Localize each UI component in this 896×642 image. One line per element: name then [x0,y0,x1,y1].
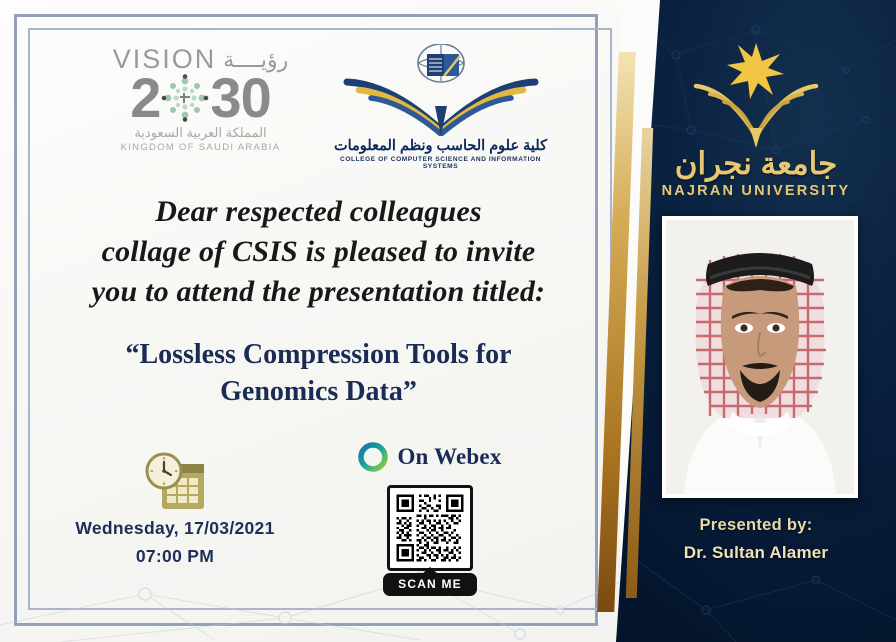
platform-label: On Webex [397,444,501,470]
csis-name-ar: كلية علوم الحاسب ونظم المعلومات [323,138,558,154]
vision-kingdom-en: KINGDOM OF SAUDI ARABIA [98,142,303,153]
right-university-panel: جامعة نجران NAJRAN UNIVERSITY [616,0,896,642]
event-date: Wednesday, 17/03/2021 [40,518,310,539]
presenter-name: Dr. Sultan Alamer [616,543,896,563]
najran-university-star-emblem [682,40,830,150]
webex-ring-icon [358,442,388,472]
csis-name-en: COLLEGE OF COMPUTER SCIENCE AND INFORMAT… [323,156,558,170]
event-time: 07:00 PM [40,546,310,567]
vision-emblem-icon [161,74,209,122]
invitation-line-1: Dear respected colleagues [46,192,591,232]
invitation-text: Dear respected colleagues collage of CSI… [46,192,591,312]
invitation-line-2: collage of CSIS is pleased to invite [46,232,591,272]
speaker-photo-frame [662,216,858,498]
vision-kingdom-ar: المملكة العربية السعودية [98,125,303,141]
csis-college-logo: كلية علوم الحاسب ونظم المعلومات COLLEGE … [323,44,558,170]
scan-me-badge: SCAN ME [383,573,477,596]
presenter-block: Presented by: Dr. Sultan Alamer [616,516,896,563]
vision-year: 2 [98,71,303,124]
logos-row: VISION رؤيــــة 2 [46,44,576,194]
vision-wordmark-en: VISION [113,44,217,75]
presentation-title-line-1: “Lossless Compression Tools for [46,336,591,373]
presentation-title-line-2: Genomics Data” [46,373,591,410]
qr-code[interactable] [387,485,473,571]
platform-block: On Webex SCAN ME [330,442,530,596]
calendar-clock-icon [142,452,208,512]
left-content-panel: VISION رؤيــــة 2 [0,0,620,642]
najran-university-logo: جامعة نجران NAJRAN UNIVERSITY [616,40,896,199]
university-name-ar: جامعة نجران [616,146,896,182]
schedule-block: Wednesday, 17/03/2021 07:00 PM [40,452,310,567]
presented-by-label: Presented by: [616,516,896,535]
vision-2030-logo: VISION رؤيــــة 2 [98,44,303,153]
csis-emblem-icon [323,44,558,136]
avatar [666,220,854,494]
university-name-en: NAJRAN UNIVERSITY [616,183,896,199]
presentation-title: “Lossless Compression Tools for Genomics… [46,336,591,410]
invitation-poster: VISION رؤيــــة 2 [0,0,896,642]
invitation-line-3: you to attend the presentation titled: [46,272,591,312]
